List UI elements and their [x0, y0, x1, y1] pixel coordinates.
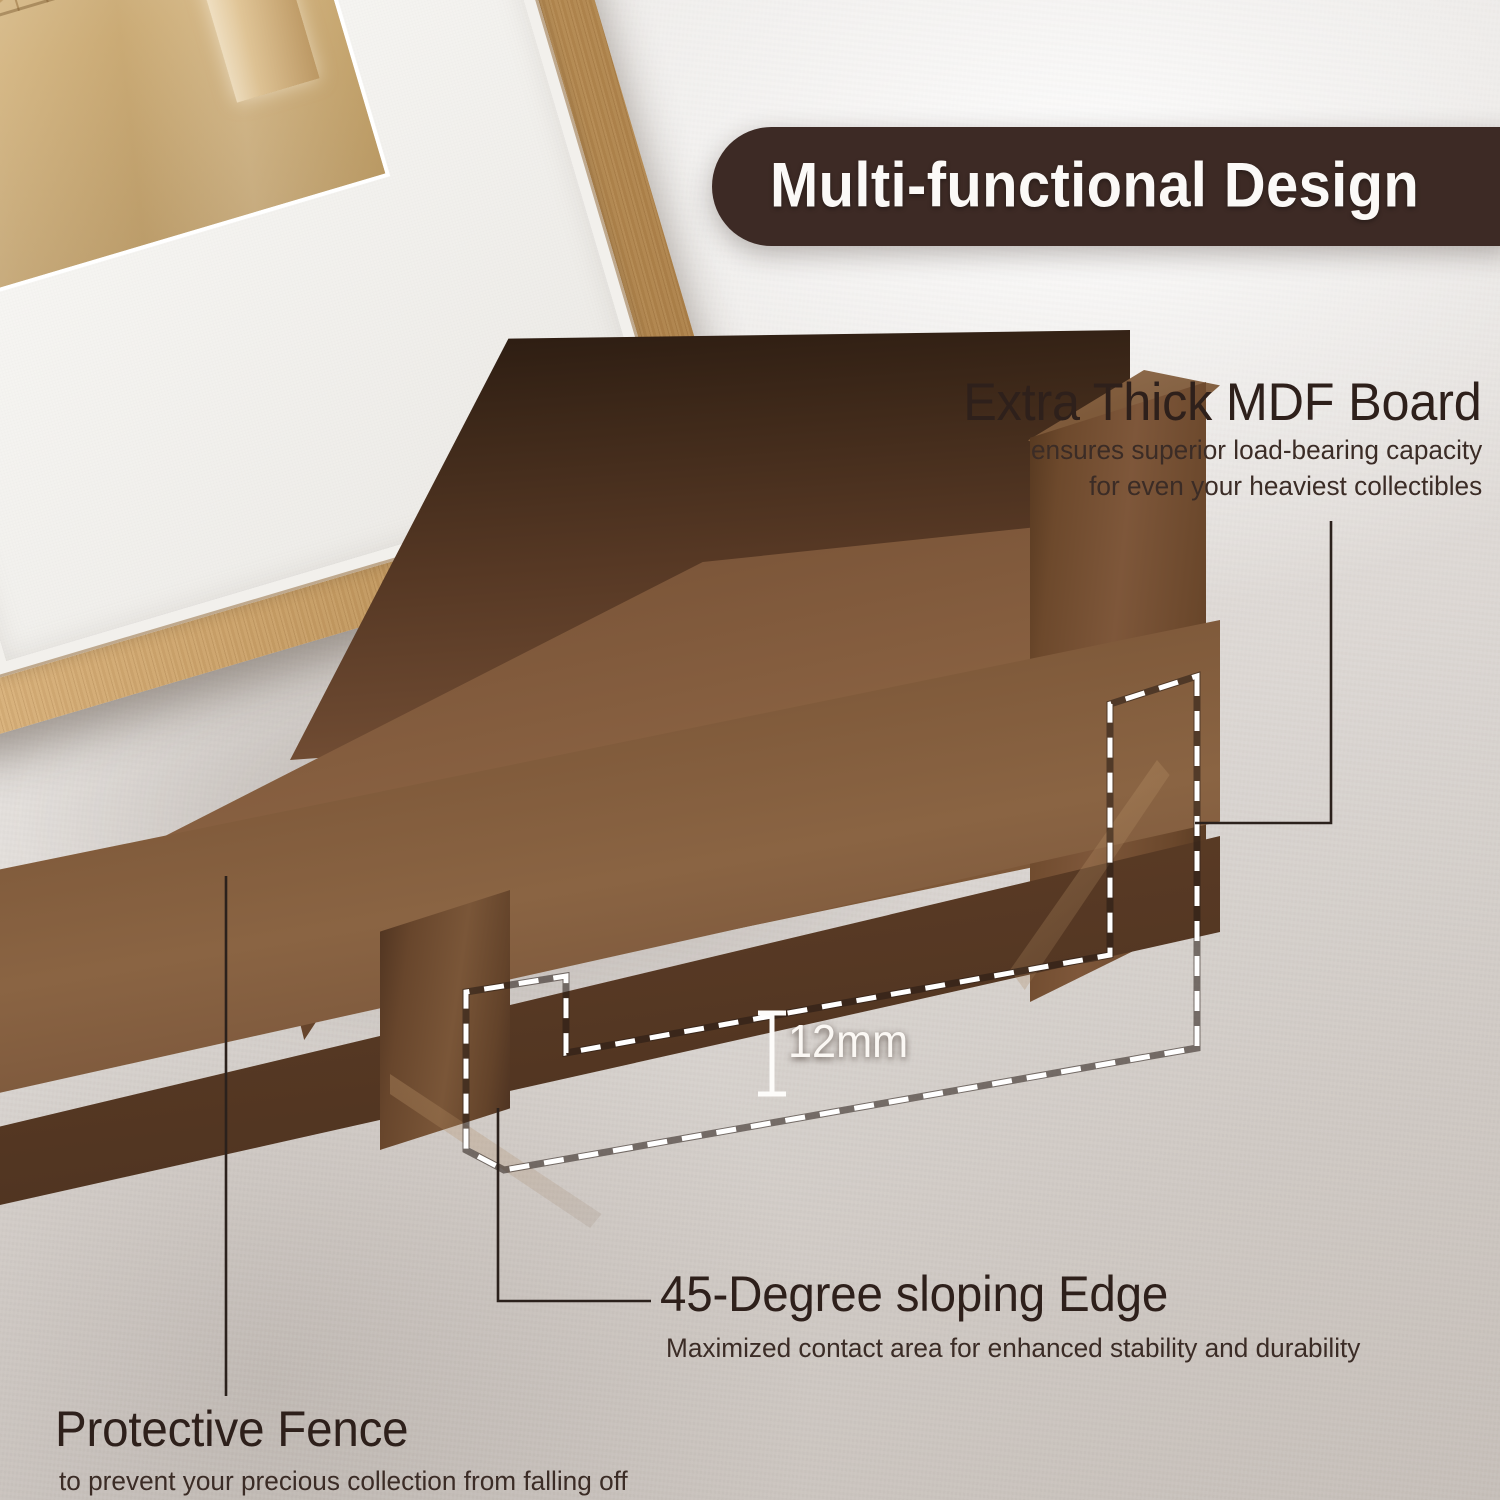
callout-45-degree-sloping-edge: 45-Degree sloping Edge Maximized contact…: [660, 1265, 1382, 1367]
shelf-profile-outline-icon: [466, 676, 1197, 1170]
callout-subtitle-protective-fence: to prevent your precious collection from…: [59, 1464, 645, 1500]
callout-title-sloping-edge: 45-Degree sloping Edge: [660, 1265, 1382, 1323]
headline-text: Multi-functional Design: [770, 149, 1476, 221]
callout-subtitle-mdf: ensures superior load-bearing capacity f…: [936, 433, 1482, 504]
leader-line-sloping-edge: [498, 1108, 651, 1301]
callout-title-protective-fence: Protective Fence: [55, 1400, 645, 1458]
callout-subtitle-sloping-edge: Maximized contact area for enhanced stab…: [666, 1331, 1382, 1367]
callout-title-mdf: Extra Thick MDF Board: [936, 372, 1482, 433]
callout-protective-fence: Protective Fence to prevent your preciou…: [55, 1400, 645, 1500]
product-feature-image: Multi-functional Design Extra Thick MDF …: [0, 0, 1500, 1500]
callout-extra-thick-mdf-board: Extra Thick MDF Board ensures superior l…: [936, 372, 1482, 504]
dimension-label-12mm: 12mm: [788, 1014, 916, 1068]
leader-line-mdf: [1195, 521, 1331, 823]
dimension-bar-12mm-icon: [758, 1013, 786, 1094]
headline-banner: Multi-functional Design: [712, 127, 1500, 246]
